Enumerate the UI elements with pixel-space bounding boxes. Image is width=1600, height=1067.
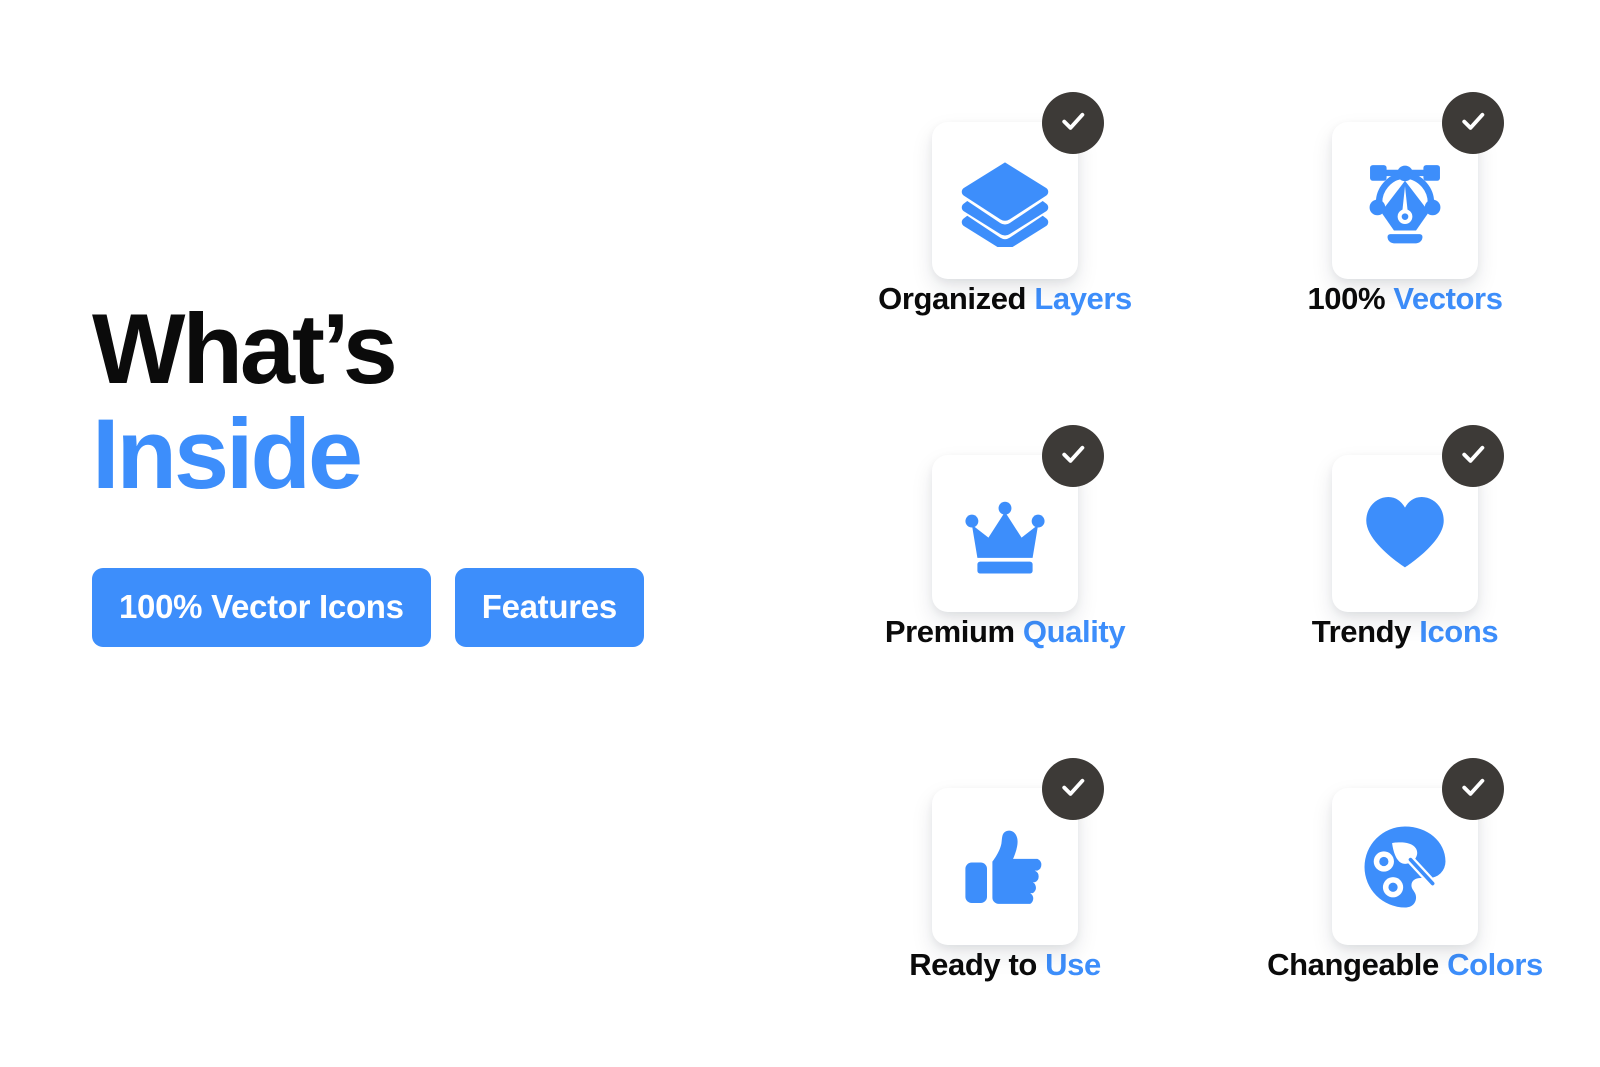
feature-item-trendy-icons[interactable]: Trendy Icons — [1255, 425, 1555, 650]
hero-button-group: 100% Vector Icons Features — [92, 568, 792, 647]
feature-item-premium-quality[interactable]: Premium Quality — [855, 425, 1155, 650]
feature-label-dark: Ready to — [909, 947, 1037, 982]
feature-label: Premium Quality — [885, 614, 1125, 650]
check-badge — [1442, 758, 1504, 820]
check-icon — [1058, 439, 1088, 474]
heart-icon — [1361, 490, 1449, 578]
check-badge — [1442, 92, 1504, 154]
feature-label: Ready to Use — [909, 947, 1101, 983]
check-icon — [1458, 439, 1488, 474]
hero-section: What’s Inside 100% Vector Icons Features — [92, 300, 792, 647]
check-icon — [1458, 106, 1488, 141]
check-badge — [1042, 92, 1104, 154]
feature-card-wrap — [932, 758, 1078, 915]
feature-card-wrap — [1332, 425, 1478, 582]
feature-label-accent: Vectors — [1393, 281, 1502, 316]
feature-label: Trendy Icons — [1312, 614, 1498, 650]
feature-label-dark: Changeable — [1267, 947, 1439, 982]
feature-label: Changeable Colors — [1267, 947, 1543, 983]
check-icon — [1458, 772, 1488, 807]
feature-item-100-vectors[interactable]: 100% Vectors — [1255, 92, 1555, 317]
feature-item-ready-to-use[interactable]: Ready to Use — [855, 758, 1155, 983]
features-button[interactable]: Features — [455, 568, 644, 647]
feature-label-accent: Colors — [1447, 947, 1543, 982]
check-icon — [1058, 772, 1088, 807]
check-badge — [1442, 425, 1504, 487]
feature-label-dark: Premium — [885, 614, 1015, 649]
color-palette-icon — [1359, 821, 1451, 913]
feature-label-accent: Quality — [1023, 614, 1125, 649]
feature-card-wrap — [932, 425, 1078, 582]
feature-label-accent: Layers — [1034, 281, 1132, 316]
page-title-line-2: Inside — [92, 405, 792, 502]
feature-grid: Organized Layers — [855, 92, 1555, 983]
feature-label: 100% Vectors — [1307, 281, 1502, 317]
feature-item-organized-layers[interactable]: Organized Layers — [855, 92, 1155, 317]
check-badge — [1042, 758, 1104, 820]
check-badge — [1042, 425, 1104, 487]
feature-card-wrap — [1332, 758, 1478, 915]
feature-label-dark: Organized — [878, 281, 1026, 316]
feature-card-wrap — [932, 92, 1078, 249]
pen-tool-icon — [1359, 155, 1451, 247]
vector-icons-button[interactable]: 100% Vector Icons — [92, 568, 431, 647]
feature-item-changeable-colors[interactable]: Changeable Colors — [1255, 758, 1555, 983]
feature-label: Organized Layers — [878, 281, 1132, 317]
check-icon — [1058, 106, 1088, 141]
feature-label-accent: Icons — [1419, 614, 1498, 649]
feature-card-wrap — [1332, 92, 1478, 249]
crown-icon — [959, 488, 1051, 580]
layers-icon — [959, 155, 1051, 247]
page-title-line-1: What’s — [92, 300, 792, 397]
feature-label-accent: Use — [1045, 947, 1101, 982]
feature-label-dark: Trendy — [1312, 614, 1411, 649]
feature-label-dark: 100% — [1307, 281, 1385, 316]
thumbs-up-icon — [960, 822, 1050, 912]
